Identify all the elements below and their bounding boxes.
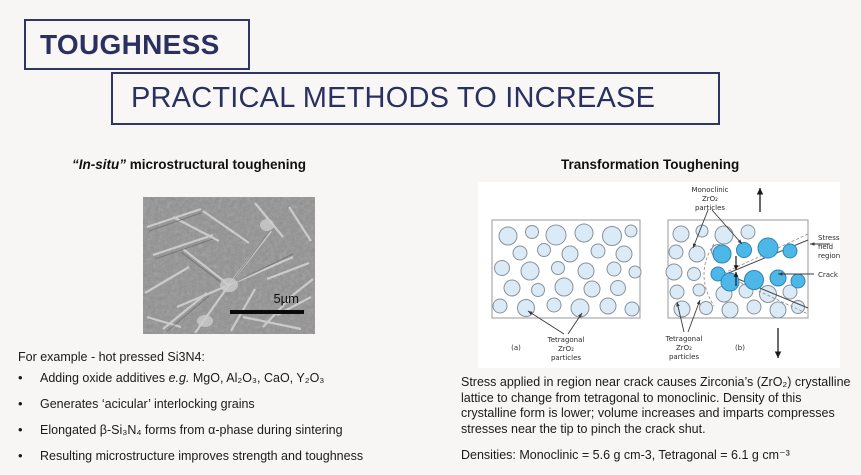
- transformation-toughening-diagram: Tetragonal ZrO₂ particles (a): [478, 182, 840, 368]
- title-box-toughness: TOUGHNESS: [24, 19, 250, 70]
- panel-b-caption: (b): [735, 344, 745, 352]
- left-bullet-list: • Adding oxide additives e.g. MgO, Al₂O₃…: [18, 371, 448, 475]
- left-heading-quoted: “In-situ”: [72, 157, 126, 172]
- right-densities-line: Densities: Monoclinic = 5.6 g cm-3, Tetr…: [461, 447, 790, 462]
- bullet-marker: •: [18, 371, 40, 384]
- tetragonal-label-b-line3: particles: [669, 353, 699, 361]
- scale-bar-label: 5µm: [273, 291, 299, 306]
- bullet-text: Resulting microstructure improves streng…: [40, 449, 363, 463]
- list-item: • Elongated β-Si₃N₄ forms from α-phase d…: [18, 423, 448, 449]
- left-column-heading: “In-situ” microstructural toughening: [72, 157, 306, 172]
- list-item: • Adding oxide additives e.g. MgO, Al₂O₃…: [18, 371, 448, 397]
- tetragonal-label-a-line1: Tetragonal: [547, 336, 585, 344]
- tetragonal-label-b-line2: ZrO₂: [676, 344, 692, 352]
- bullet-0-prefix: Adding oxide additives: [40, 371, 169, 385]
- title-toughness-text: TOUGHNESS: [26, 29, 220, 61]
- title-box-practical-methods: PRACTICAL METHODS TO INCREASE: [111, 72, 720, 125]
- stress-field-label-line1: Stress: [818, 234, 840, 242]
- bullet-marker: •: [18, 423, 40, 436]
- left-heading-rest: microstructural toughening: [126, 157, 306, 172]
- stress-field-label-line3: region: [818, 252, 840, 260]
- bullet-text: Adding oxide additives e.g. MgO, Al₂O₃, …: [40, 371, 324, 385]
- sem-micrograph-image: 5µm: [143, 197, 315, 334]
- bullet-0-italic: e.g.: [169, 371, 190, 385]
- bullet-marker: •: [18, 397, 40, 410]
- title-practical-methods-text: PRACTICAL METHODS TO INCREASE: [113, 82, 655, 115]
- crack-label: Crack: [818, 271, 839, 279]
- monoclinic-label-line2: ZrO₂: [702, 195, 718, 203]
- list-item: • Generates ‘acicular’ interlocking grai…: [18, 397, 448, 423]
- scale-bar-line: [230, 310, 304, 314]
- slide-canvas: TOUGHNESS PRACTICAL METHODS TO INCREASE …: [0, 0, 861, 470]
- right-column-heading: Transformation Toughening: [561, 157, 739, 172]
- bullet-0-suffix: MgO, Al₂O₃, CaO, Y₂O₃: [189, 371, 324, 385]
- stress-field-label-line2: field: [818, 243, 833, 251]
- monoclinic-label-line3: particles: [695, 204, 725, 212]
- bullet-text: Elongated β-Si₃N₄ forms from α-phase dur…: [40, 423, 343, 437]
- left-intro-line: For example - hot pressed Si3N4:: [18, 350, 205, 364]
- monoclinic-label-line1: Monoclinic: [691, 186, 728, 194]
- diagram-graphic: Tetragonal ZrO₂ particles (a): [478, 182, 840, 368]
- bullet-text: Generates ‘acicular’ interlocking grains: [40, 397, 255, 411]
- tetragonal-label-b-line1: Tetragonal: [665, 335, 703, 343]
- panel-a-caption: (a): [511, 344, 521, 352]
- bullet-marker: •: [18, 449, 40, 462]
- right-paragraph: Stress applied in region near crack caus…: [461, 375, 853, 437]
- list-item: • Resulting microstructure improves stre…: [18, 449, 448, 475]
- tetragonal-label-a-line3: particles: [551, 354, 581, 362]
- tetragonal-label-a-line2: ZrO₂: [558, 345, 574, 353]
